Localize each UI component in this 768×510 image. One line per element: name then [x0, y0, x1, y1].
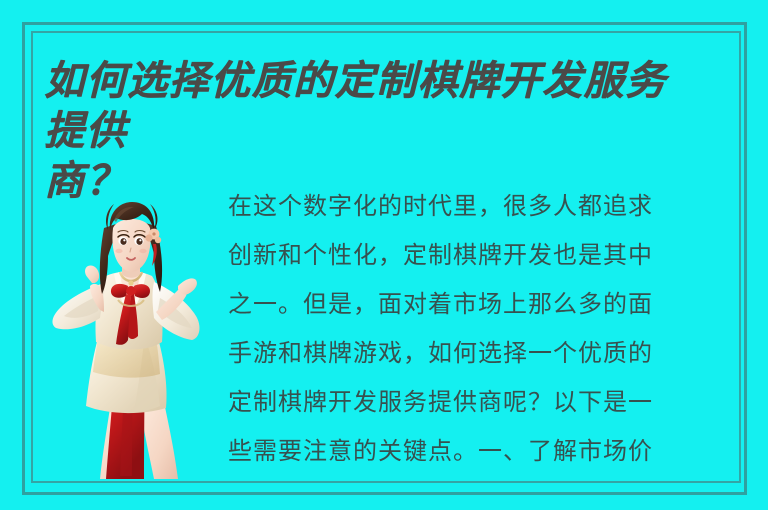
character-hair-flower-petal-b: [155, 237, 161, 243]
character-face: [112, 219, 150, 272]
character-bow-left-loop: [111, 284, 128, 298]
character-right-eye-glint: [139, 239, 141, 241]
character-right-leg: [140, 402, 178, 479]
character-left-blush: [115, 249, 122, 253]
character-hair-flower-center: [152, 232, 155, 235]
character-right-blush: [139, 249, 146, 253]
character-left-eye-glint: [123, 239, 125, 241]
character-left-hand: [85, 265, 99, 283]
article-body-text: 在这个数字化的时代里，很多人都追求 创新和个性化，定制棋牌开发也是其中 之一。但…: [228, 182, 724, 476]
character-hair-flower-petal-a: [145, 234, 152, 241]
character-illustration: [44, 190, 222, 479]
character-bow-right-loop: [134, 284, 150, 298]
character-right-iris: [136, 238, 142, 245]
character-left-iris: [120, 238, 126, 245]
poster-canvas: 如何选择优质的定制棋牌开发服务提供 商？ 在这个数字化的时代里，很多人都追求 创…: [0, 0, 768, 510]
character-necklace-pendant: [128, 280, 133, 285]
character-right-hand: [178, 278, 197, 294]
character-illustration-svg: [44, 190, 222, 479]
character-bow-knot: [126, 286, 136, 296]
